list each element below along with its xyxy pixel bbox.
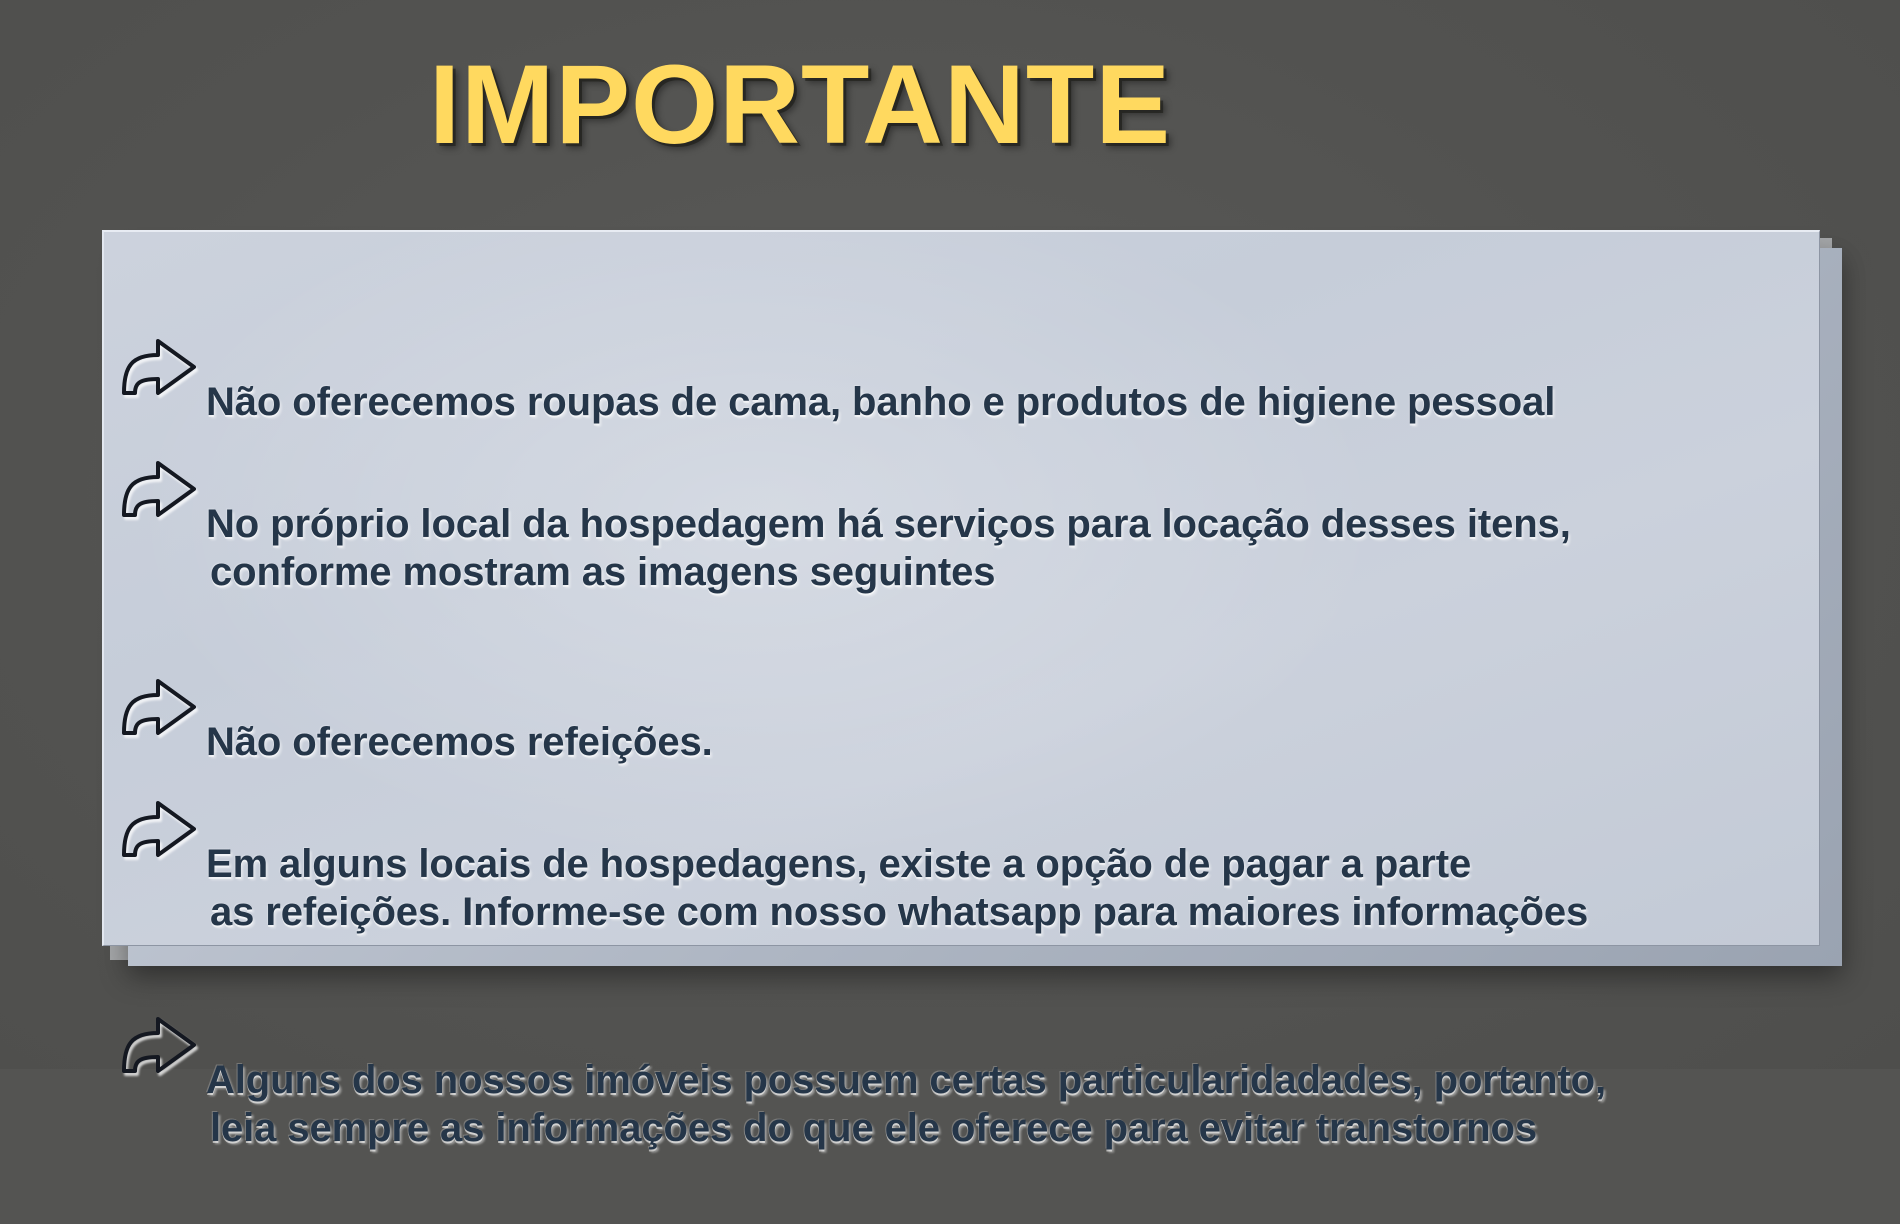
- bullet-list: Não oferecemos roupas de cama, banho e p…: [118, 330, 1818, 1224]
- list-item-text: Não oferecemos refeições.: [206, 670, 713, 766]
- curved-block-arrow-right-icon: [118, 458, 200, 520]
- list-item-line-1: Em alguns locais de hospedagens, existe …: [206, 842, 1471, 886]
- list-item: Não oferecemos roupas de cama, banho e p…: [118, 330, 1818, 426]
- list-item-text: Não oferecemos roupas de cama, banho e p…: [206, 330, 1555, 426]
- slide-canvas: IMPORTANTE Não oferecemos roupas de cama…: [0, 0, 1900, 1069]
- list-item: No próprio local da hospedagem há serviç…: [118, 452, 1818, 644]
- list-item-text: No próprio local da hospedagem há serviç…: [206, 452, 1571, 644]
- list-item-line-2: as refeições. Informe-se com nosso whats…: [206, 888, 1588, 936]
- curved-block-arrow-right-icon: [118, 1014, 200, 1076]
- list-item: Em alguns locais de hospedagens, existe …: [118, 792, 1818, 984]
- list-item: Não oferecemos refeições.: [118, 670, 1818, 766]
- list-item-line-1: Não oferecemos roupas de cama, banho e p…: [206, 380, 1555, 424]
- list-item-text: Alguns dos nossos imóveis possuem certas…: [206, 1008, 1606, 1200]
- list-item-text: Em alguns locais de hospedagens, existe …: [206, 792, 1588, 984]
- curved-block-arrow-right-icon: [118, 336, 200, 398]
- curved-block-arrow-right-icon: [118, 676, 200, 738]
- list-item-line-1: Não oferecemos refeições.: [206, 720, 713, 764]
- list-item-line-1: Alguns dos nossos imóveis possuem certas…: [206, 1058, 1606, 1102]
- list-item-line-2: leia sempre as informações do que ele of…: [206, 1104, 1606, 1152]
- list-item-line-2: conforme mostram as imagens seguintes: [206, 548, 1571, 596]
- page-title: IMPORTANTE: [0, 46, 1600, 164]
- list-item-line-1: No próprio local da hospedagem há serviç…: [206, 502, 1571, 546]
- curved-block-arrow-right-icon: [118, 798, 200, 860]
- list-item: Alguns dos nossos imóveis possuem certas…: [118, 1008, 1818, 1200]
